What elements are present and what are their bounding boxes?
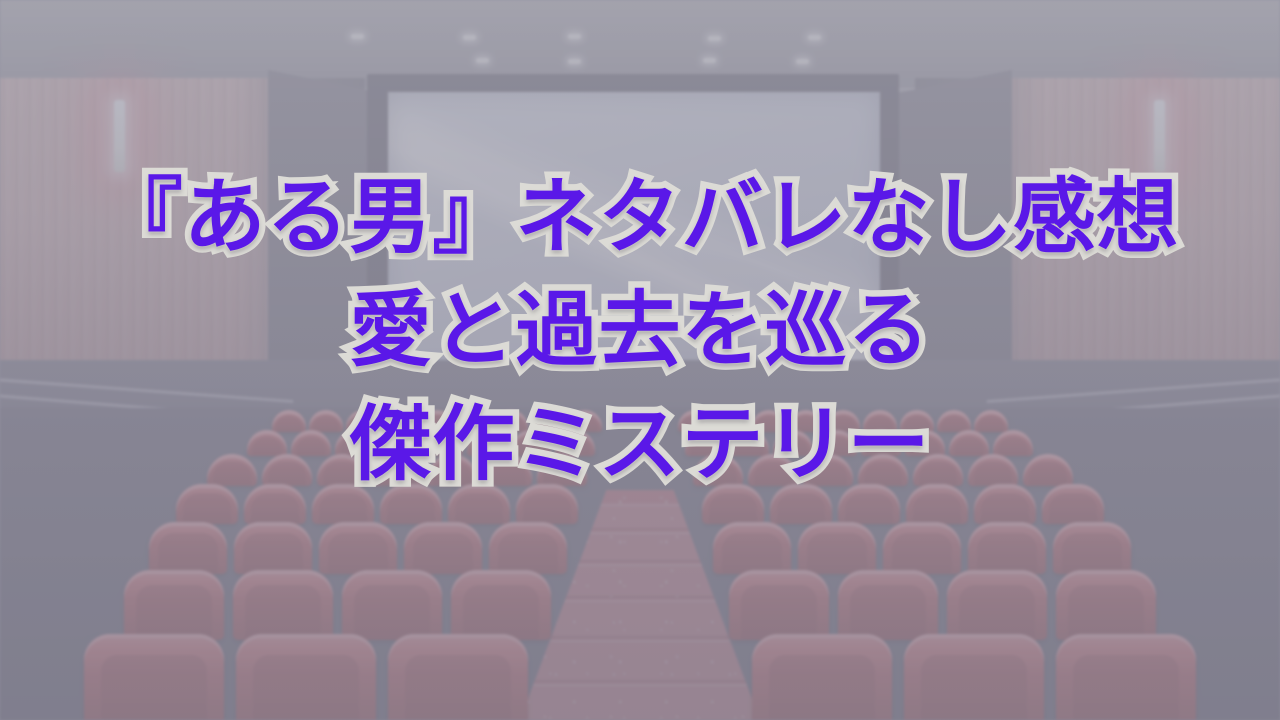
thumbnail-canvas: 『ある男』ネタバレなし感想 愛と過去を巡る 傑作ミステリー [0, 0, 1280, 720]
title-line-3: 傑作ミステリー [0, 393, 1280, 496]
title-line-2: 愛と過去を巡る [0, 279, 1280, 382]
title-line-1: 『ある男』ネタバレなし感想 [0, 166, 1280, 269]
title-block: 『ある男』ネタバレなし感想 愛と過去を巡る 傑作ミステリー [0, 166, 1280, 496]
